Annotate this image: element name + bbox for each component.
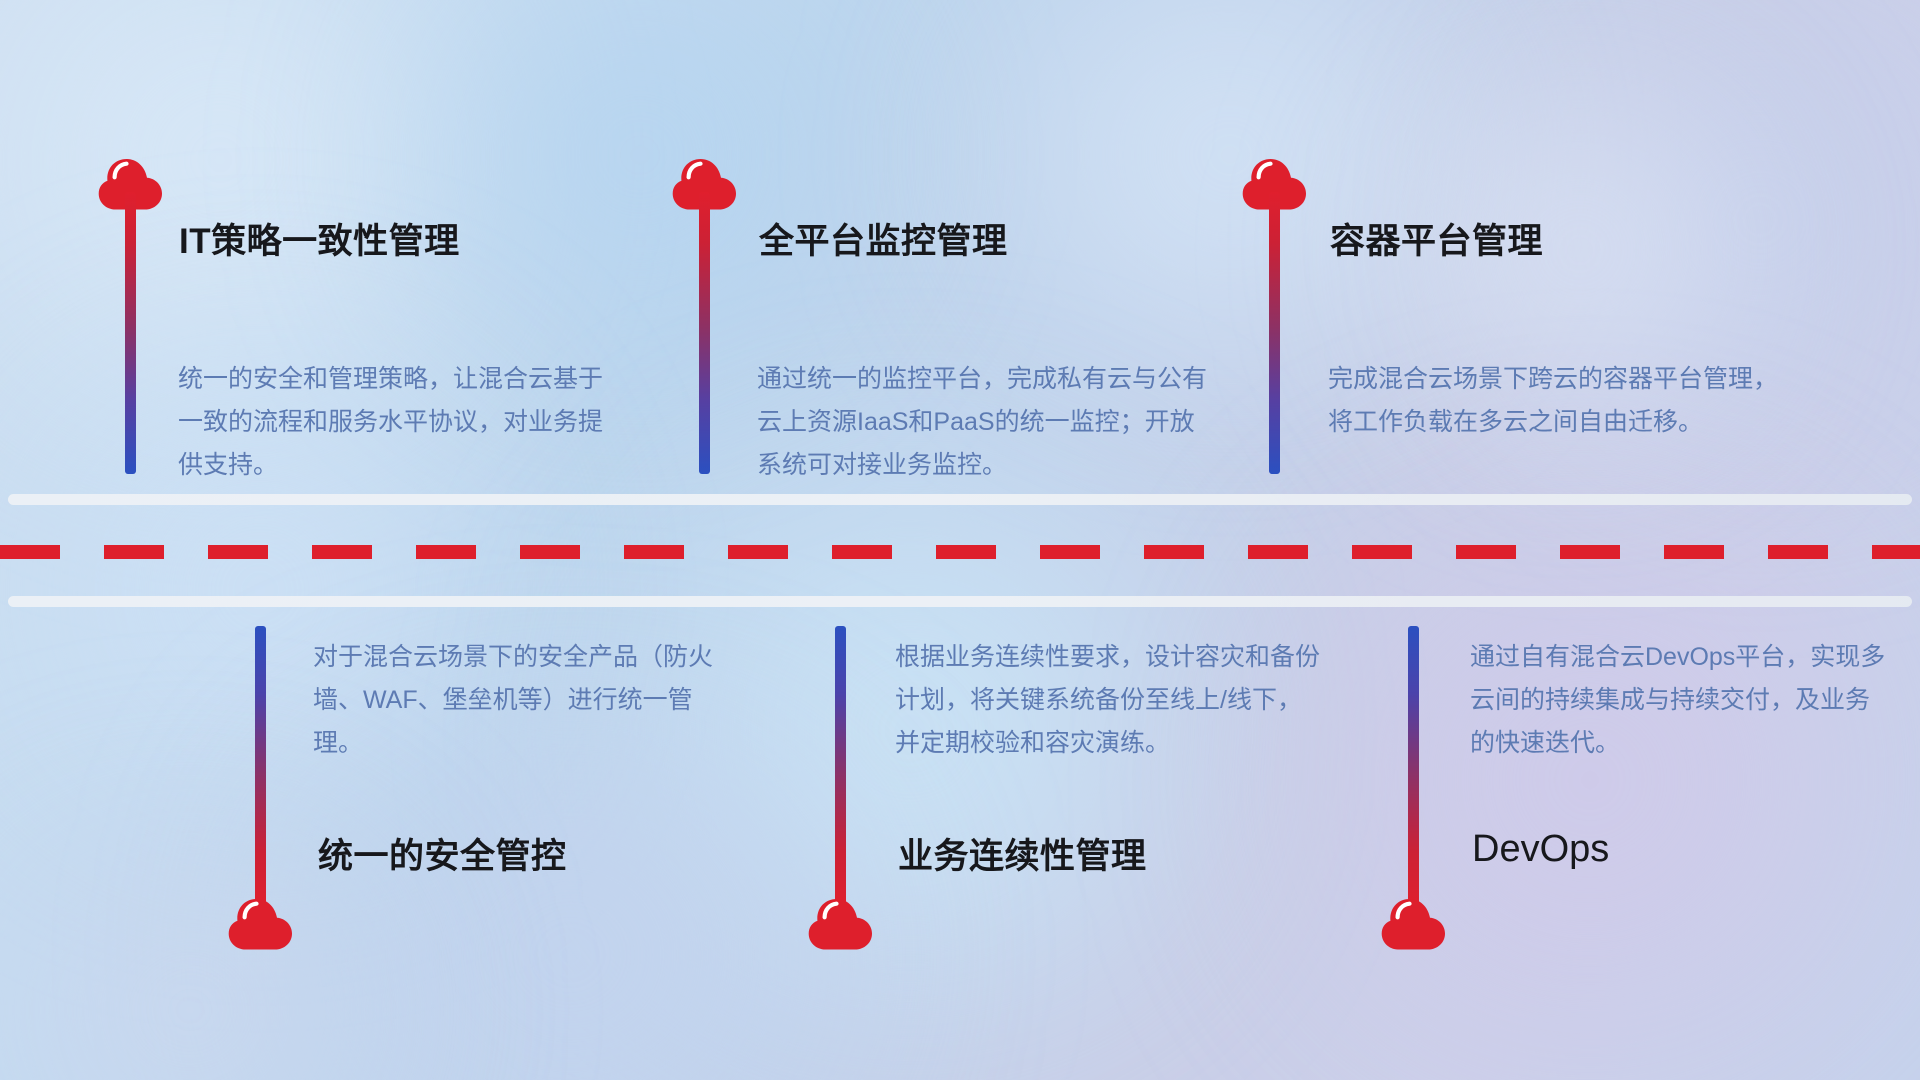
divider-rule-bottom: [8, 596, 1912, 607]
bottom-item-1-body: 对于混合云场景下的安全产品（防火墙、WAF、堡垒机等）进行统一管理。: [313, 636, 733, 765]
cloud-icon: [808, 898, 874, 950]
dashed-separator: [0, 545, 1920, 559]
bottom-item-1-heading: 统一的安全管控: [318, 828, 567, 879]
connector-line: [835, 626, 846, 908]
infographic-canvas: IT策略一致性管理 统一的安全和管理策略，让混合云基于一致的流程和服务水平协议，…: [0, 0, 1920, 1080]
connector-line: [255, 626, 266, 908]
cloud-icon: [1381, 898, 1447, 950]
bottom-item-3-body: 通过自有混合云DevOps平台，实现多云间的持续集成与持续交付，及业务的快速迭代…: [1470, 636, 1890, 765]
connector-line: [1408, 626, 1419, 908]
divider-rule-top: [8, 494, 1912, 505]
cloud-icon: [228, 898, 294, 950]
bottom-item-3-heading: DevOps: [1472, 828, 1609, 871]
bottom-item-2-heading: 业务连续性管理: [898, 828, 1147, 879]
bottom-item-2-body: 根据业务连续性要求，设计容灾和备份计划，将关键系统备份至线上/线下，并定期校验和…: [895, 636, 1325, 765]
